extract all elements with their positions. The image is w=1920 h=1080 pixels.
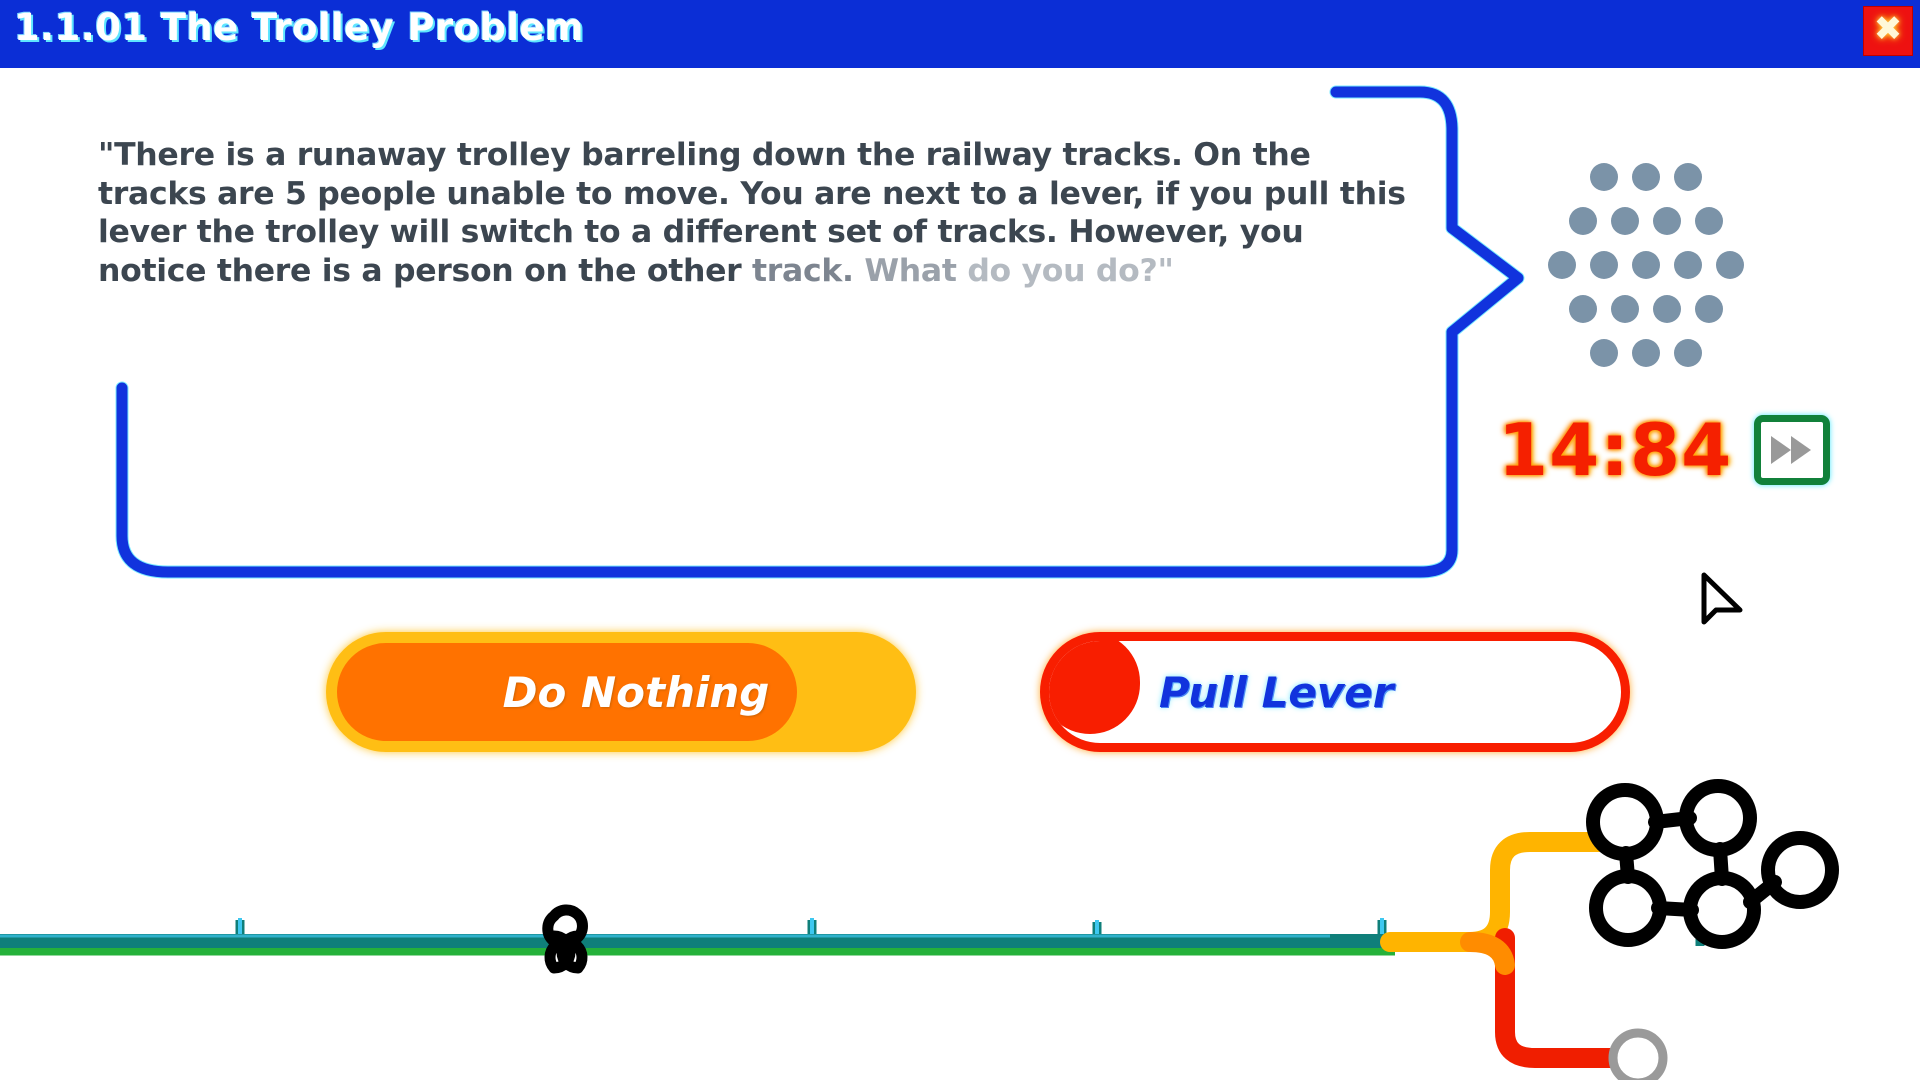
close-icon: ✖ [1874,12,1903,46]
timer-row: 14:84 [1498,414,1830,486]
countdown-timer: 14:84 [1498,414,1732,486]
title-bar: 1.1.01 The Trolley Problem ✖ [0,0,1920,68]
crowd-dot [1548,251,1576,279]
crowd-dot [1590,251,1618,279]
crowd-dot [1632,163,1660,191]
fast-forward-icon [1769,433,1815,467]
crowd-dot [1674,251,1702,279]
close-button[interactable]: ✖ [1863,6,1913,56]
trolley-problem-game: 1.1.01 The Trolley Problem ✖ "There is a… [0,0,1920,1080]
five-people-links [1626,818,1775,910]
crowd-dot [1653,295,1681,323]
five-people-marker [1593,786,1832,942]
crowd-dots-icon [1548,163,1758,363]
page-title: 1.1.01 The Trolley Problem [14,6,584,49]
fast-forward-button[interactable] [1754,415,1830,485]
track-ties [240,920,1700,946]
choice-button-do-nothing[interactable]: Do Nothing [326,632,916,752]
dialogue-segment-2: What [864,253,967,289]
crowd-dot [1611,295,1639,323]
mouse-pointer-icon [1700,572,1744,632]
dialogue-segment-1: track. [752,253,864,289]
crowd-dot [1632,251,1660,279]
lower-branch-track [1505,938,1618,1058]
dialogue-text: "There is a runaway trolley barreling do… [98,136,1418,290]
upper-branch-track [1390,842,1610,942]
one-person-marker [1613,1033,1663,1080]
dialogue-segment-3: do you do?" [967,253,1173,289]
do-nothing-label: Do Nothing [341,632,916,752]
track-ties-highlight [240,918,1382,940]
crowd-dot [1569,207,1597,235]
trolley-marker [548,910,583,968]
crowd-dot [1590,163,1618,191]
crowd-dot [1716,251,1744,279]
crowd-dot [1674,339,1702,367]
crowd-dot [1653,207,1681,235]
crowd-dot [1695,207,1723,235]
crowd-dot [1632,339,1660,367]
choice-button-pull-lever[interactable]: Pull Lever [1040,632,1630,752]
crowd-dot [1611,207,1639,235]
crowd-dot [1695,295,1723,323]
crowd-dot [1569,295,1597,323]
crowd-dot [1674,163,1702,191]
pull-lever-label: Pull Lever [1049,641,1621,743]
track-scene [0,760,1920,1080]
crowd-dot [1590,339,1618,367]
